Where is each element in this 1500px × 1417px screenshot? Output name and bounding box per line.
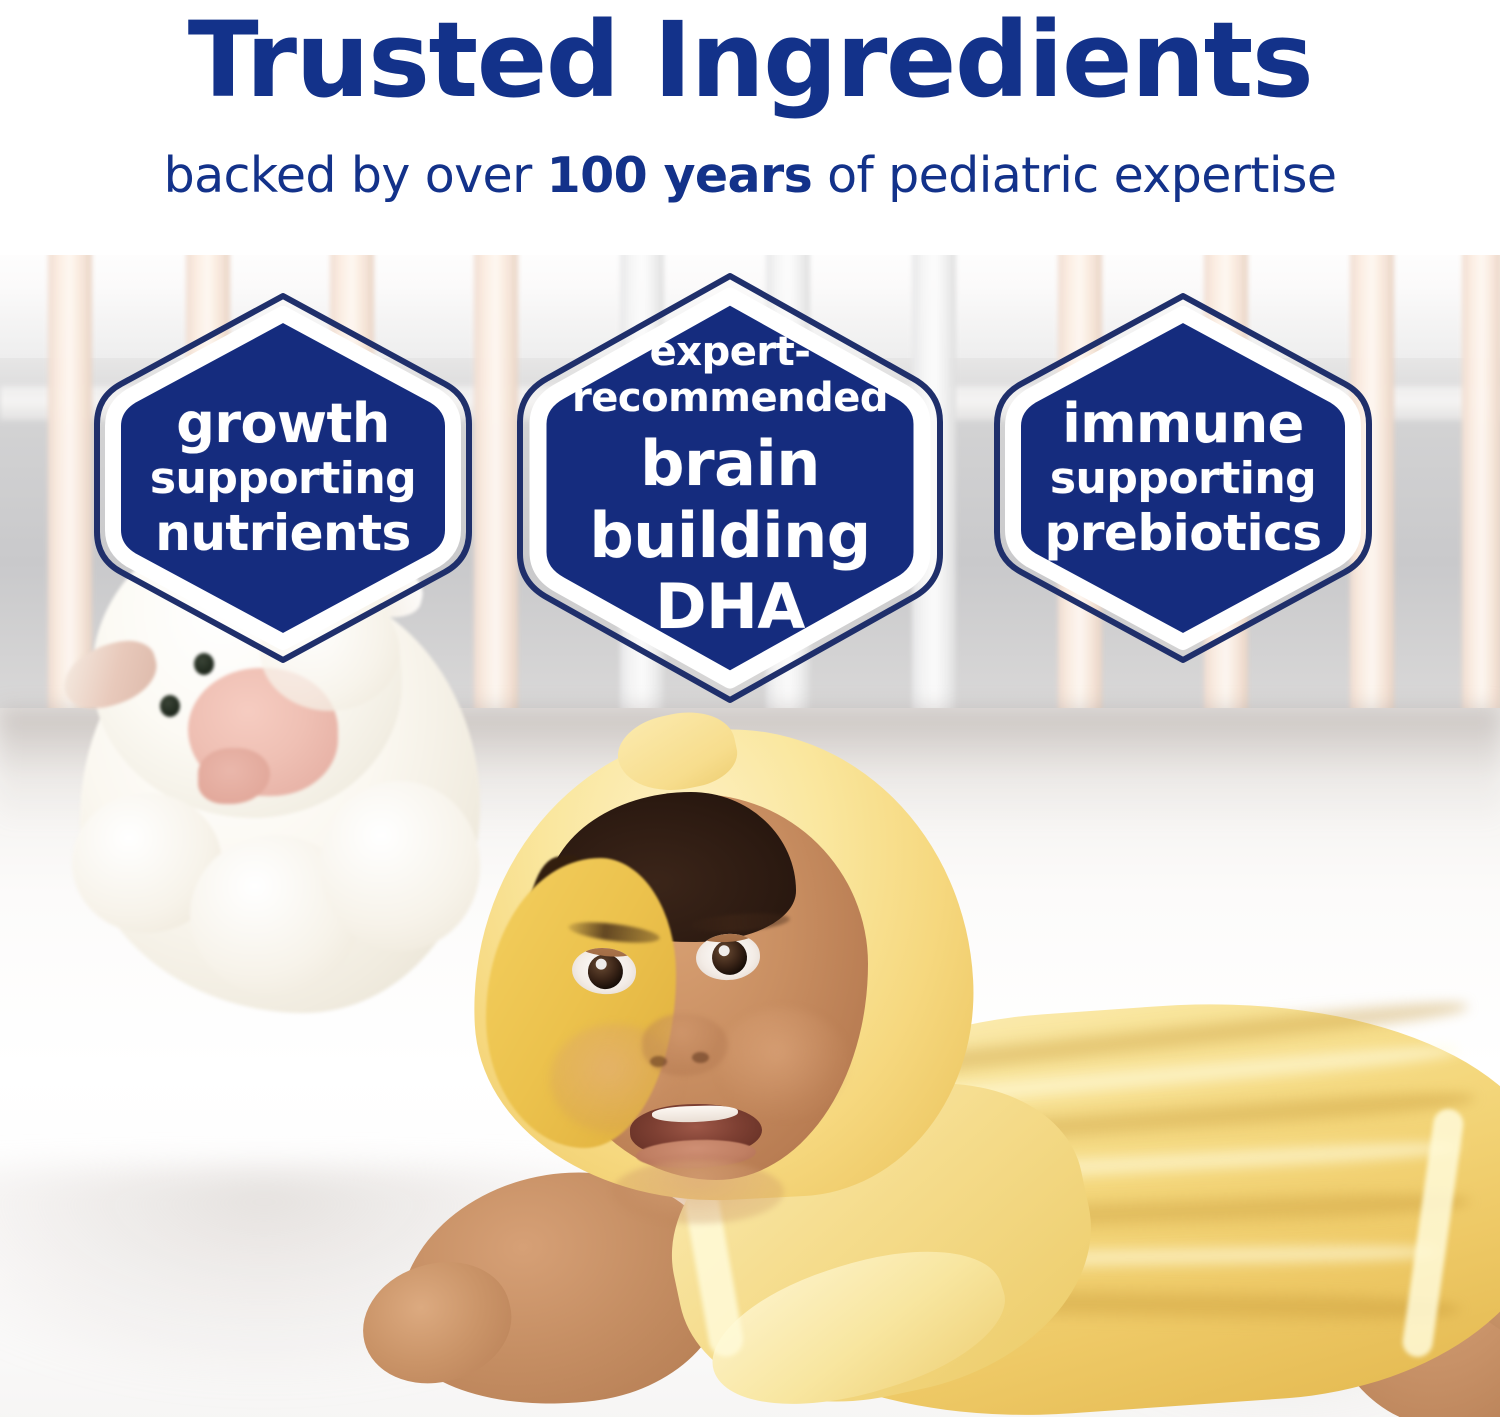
badge-line: brain bbox=[640, 428, 820, 500]
baby-nostril bbox=[650, 1056, 667, 1067]
baby-nostril bbox=[692, 1052, 709, 1063]
page-title: Trusted Ingredients bbox=[0, 4, 1500, 116]
baby-cheek bbox=[718, 1008, 848, 1118]
badge-growth-text: growth supporting nutrients bbox=[93, 292, 473, 664]
subtitle-prefix: backed by over bbox=[164, 147, 547, 204]
badge-line: nutrients bbox=[155, 505, 411, 561]
page-subtitle: backed by over 100 years of pediatric ex… bbox=[0, 146, 1500, 206]
badge-line: immune bbox=[1062, 395, 1304, 453]
marketing-banner: Trusted Ingredients backed by over 100 y… bbox=[0, 0, 1500, 1417]
subtitle-suffix: of pediatric expertise bbox=[812, 147, 1336, 204]
badge-line: growth bbox=[176, 395, 390, 453]
badge-line: supporting bbox=[150, 453, 416, 505]
baby-iris bbox=[711, 939, 748, 976]
badge-line: recommended bbox=[572, 374, 888, 422]
header-block: Trusted Ingredients backed by over 100 y… bbox=[0, 0, 1500, 255]
badge-line: building bbox=[589, 500, 870, 572]
subtitle-emphasis: 100 years bbox=[547, 147, 813, 204]
badge-dha[interactable]: expert- recommended brain building DHA bbox=[516, 272, 944, 704]
badge-line: expert- bbox=[650, 330, 811, 374]
badge-growth[interactable]: growth supporting nutrients bbox=[93, 292, 473, 664]
baby-subject bbox=[300, 708, 1500, 1417]
badge-immune[interactable]: immune supporting prebiotics bbox=[993, 292, 1373, 664]
baby-chin bbox=[612, 1160, 784, 1224]
baby-iris bbox=[586, 952, 624, 990]
lamb-eye bbox=[160, 695, 180, 717]
badge-immune-text: immune supporting prebiotics bbox=[993, 292, 1373, 664]
badge-line: prebiotics bbox=[1044, 505, 1321, 561]
badge-dha-text: expert- recommended brain building DHA bbox=[516, 272, 944, 762]
badge-line: DHA bbox=[655, 572, 805, 642]
badge-line: supporting bbox=[1050, 453, 1316, 505]
